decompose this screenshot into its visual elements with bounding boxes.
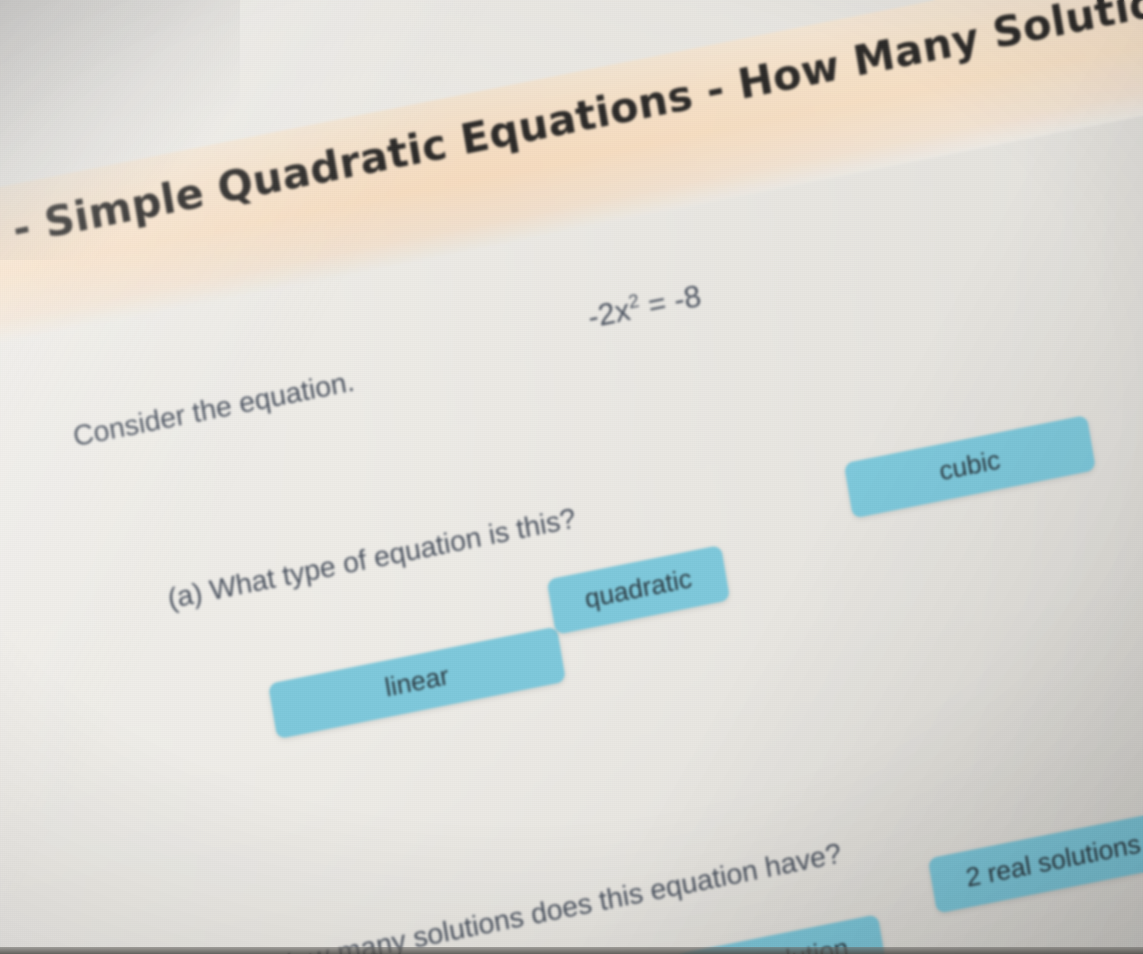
equation-lhs: -2x [586, 294, 633, 335]
worksheet-page: ations - Simple Quadratic Equations - Ho… [0, 0, 1143, 954]
photographed-screen: ations - Simple Quadratic Equations - Ho… [0, 0, 1143, 954]
option-button-quadratic[interactable]: quadratic [547, 545, 731, 635]
question-b-text: (b) How many solutions does this equatio… [230, 837, 844, 954]
equation-rhs: -8 [671, 279, 703, 317]
equation-display: -2x2 = -8 [585, 277, 704, 335]
intro-text: Consider the equation. [71, 365, 357, 453]
equation-relation: = [646, 286, 669, 323]
question-a-text: (a) What type of equation is this? [165, 502, 578, 615]
equation-exponent: 2 [627, 289, 641, 312]
option-button-cubic[interactable]: cubic [844, 415, 1096, 519]
option-button-two-real-solutions[interactable]: 2 real solutions [928, 810, 1143, 914]
frame-bottom-edge [0, 947, 1143, 954]
option-button-linear[interactable]: linear [268, 626, 566, 739]
